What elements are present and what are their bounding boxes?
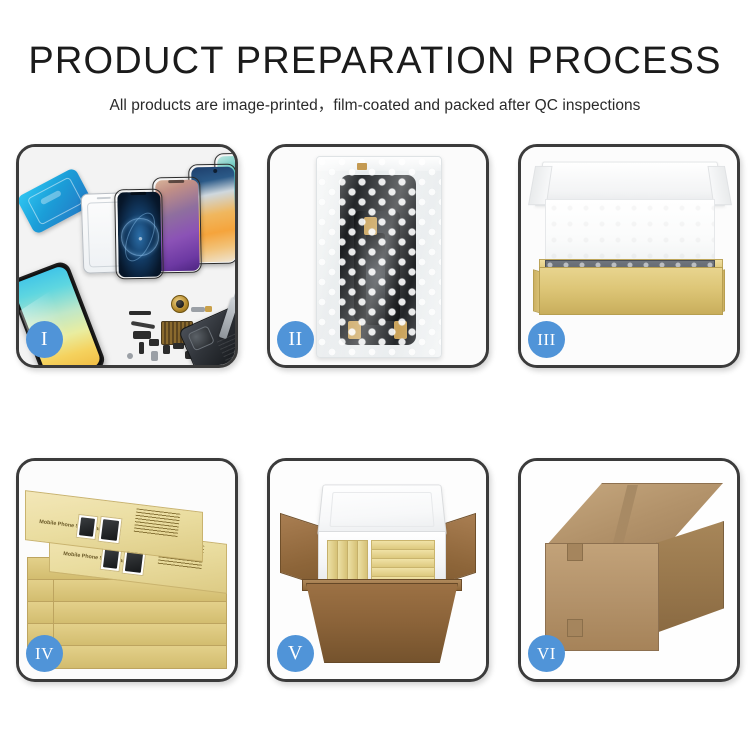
step-2-illustration: II: [270, 147, 486, 365]
box-label-spec-lines-back: [134, 508, 181, 537]
page-subtitle: All products are image-printed，film-coat…: [0, 93, 750, 115]
box-label-swatch-back-1: [76, 514, 99, 540]
product-preparation-infographic: PRODUCT PREPARATION PROCESS All products…: [0, 0, 750, 750]
bubble-wrap-bag-graphic: [316, 156, 442, 358]
step-badge-3: III: [528, 321, 565, 358]
header: PRODUCT PREPARATION PROCESS All products…: [0, 0, 750, 115]
plastic-sheen: [317, 157, 441, 357]
page-title: PRODUCT PREPARATION PROCESS: [0, 42, 750, 82]
step-6-illustration: VI: [521, 461, 737, 679]
step-badge-6: VI: [528, 635, 565, 672]
process-step-card-2[interactable]: II: [267, 144, 489, 368]
box-label-swatch-back-2: [97, 516, 122, 544]
carton-tape-upper: [567, 543, 583, 561]
carton-body-graphic: [306, 583, 458, 663]
tape-sticker-graphic: [357, 163, 367, 170]
step-5-illustration: V: [270, 461, 486, 679]
step-4-illustration: Mobile Phone Spare Parts Mobile Phone Sp…: [19, 461, 235, 679]
process-step-card-6[interactable]: VI: [518, 458, 740, 682]
process-step-card-3[interactable]: III: [518, 144, 740, 368]
kraft-inner-box-graphic: [539, 267, 723, 315]
process-step-card-4[interactable]: Mobile Phone Spare Parts Mobile Phone Sp…: [16, 458, 238, 682]
step-3-illustration: III: [521, 147, 737, 365]
step-badge-4: IV: [26, 635, 63, 672]
process-step-card-1[interactable]: I: [16, 144, 238, 368]
step-badge-5: V: [277, 635, 314, 672]
phone-dark-blue-graphic: [114, 189, 164, 280]
styrofoam-lid-graphic: [317, 484, 447, 535]
step-1-illustration: I: [19, 147, 235, 365]
carton-front-face: [545, 543, 659, 651]
bag-seal-top: [317, 157, 441, 171]
process-step-grid: I: [16, 144, 740, 682]
step-badge-1: I: [26, 321, 63, 358]
carton-tape-lower: [567, 619, 583, 637]
step-badge-2: II: [277, 321, 314, 358]
process-step-card-5[interactable]: V: [267, 458, 489, 682]
